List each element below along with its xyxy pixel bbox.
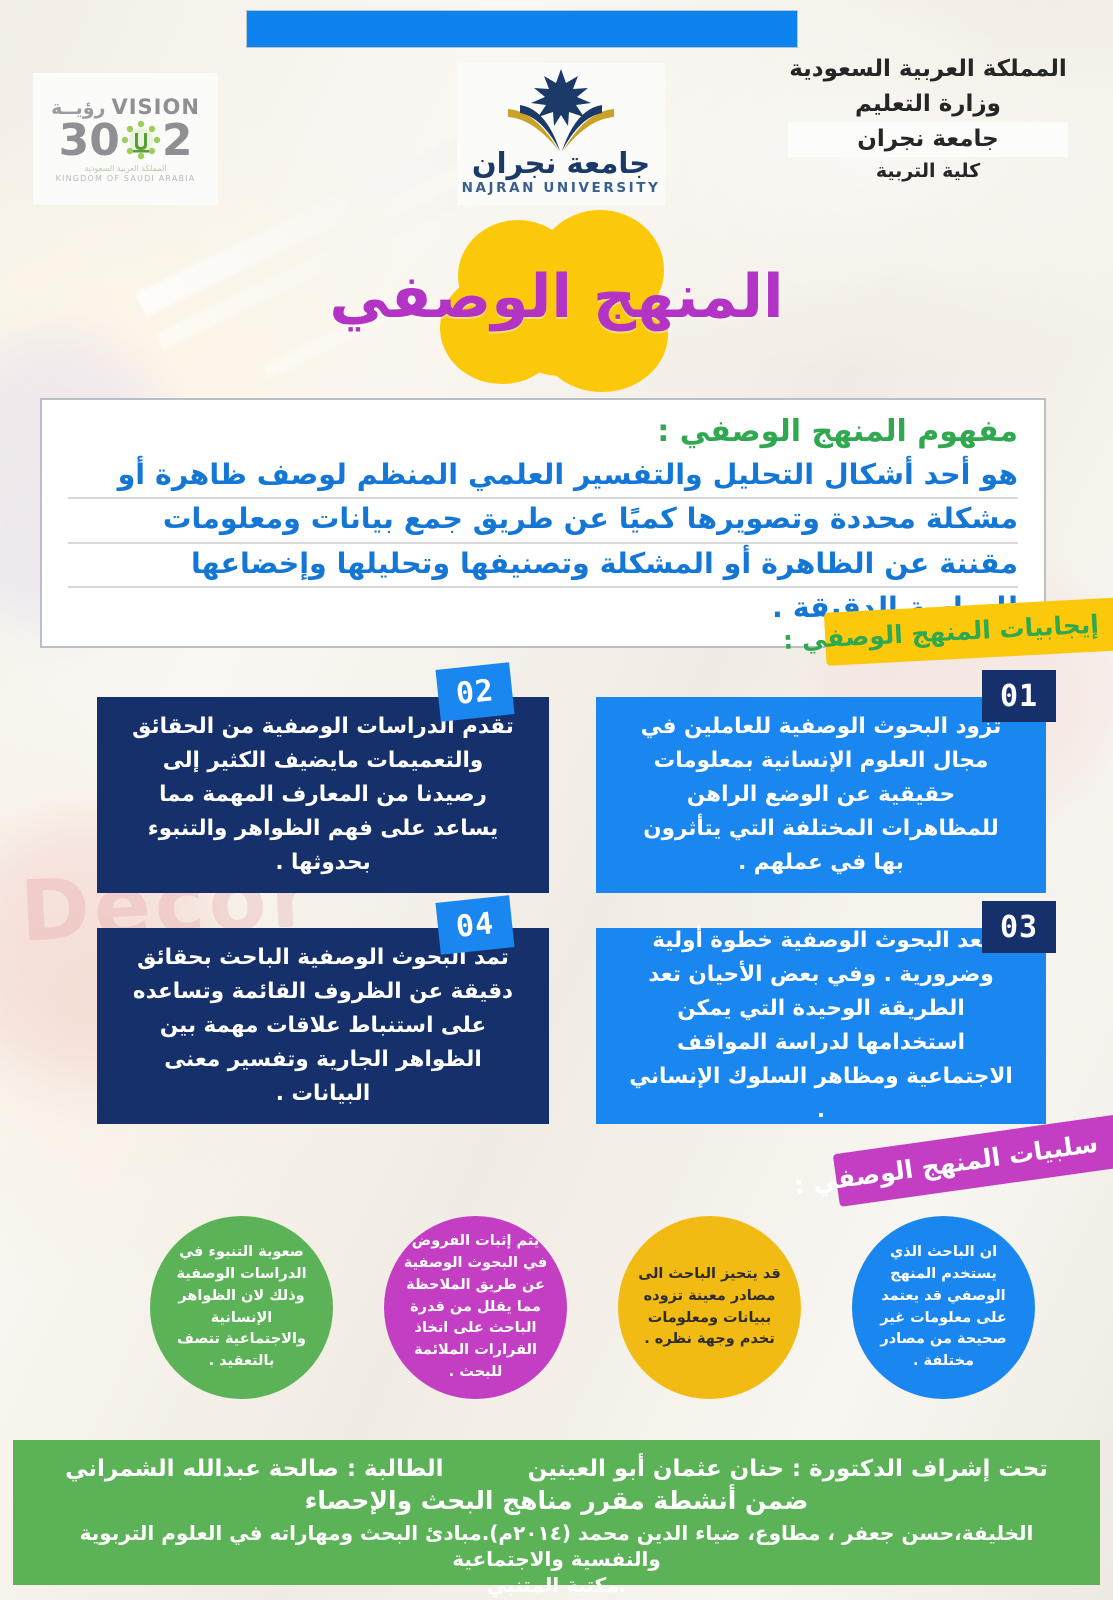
positive-card-03: تعد البحوث الوصفية خطوة أولية وضرورية . … (596, 928, 1046, 1124)
positive-card-text: تمد البحوث الوصفية الباحث بحقائق دقيقة ع… (127, 941, 519, 1111)
vision-year-right: 30 (59, 120, 120, 162)
positive-card-04: تمد البحوث الوصفية الباحث بحقائق دقيقة ع… (97, 928, 549, 1124)
footer-supervisor: تحت إشراف الدكتورة : حنان عثمان أبو العي… (528, 1456, 1048, 1482)
vision-year-left: 2 (162, 120, 193, 162)
concept-body: هو أحد أشكال التحليل والتفسير العلمي الم… (68, 455, 1018, 631)
header-line-ministry: وزارة التعليم (788, 87, 1068, 122)
negative-circle-1: صعوبة التنبوء في الدراسات الوصفية وذلك ل… (150, 1216, 333, 1399)
concept-heading: مفهوم المنهج الوصفي : (68, 414, 1018, 449)
vision-sub-english: KINGDOM OF SAUDI ARABIA (56, 174, 196, 183)
institution-header: المملكة العربية السعودية وزارة التعليم ج… (788, 52, 1068, 186)
saudi-vision-emblem-icon (121, 120, 161, 160)
positive-card-badge-02: 02 (435, 662, 514, 721)
negative-circle-text: قد يتحيز الباحث الى مصادر معينة تزوده بب… (636, 1264, 783, 1351)
concept-line: هو أحد أشكال التحليل والتفسير العلمي الم… (68, 455, 1018, 499)
concept-line: مشكلة محددة وتصويرها كميًا عن طريق جمع ب… (68, 499, 1018, 543)
header-line-kingdom: المملكة العربية السعودية (788, 52, 1068, 87)
footer-band: تحت إشراف الدكتورة : حنان عثمان أبو العي… (13, 1440, 1100, 1585)
vision-sub-arabic: المملكة العربية السعودية (84, 164, 166, 173)
footer-course: ضمن أنشطة مقرر مناهج البحث والإحصاء (37, 1486, 1076, 1515)
footer-reference-line-1: الخليفة،حسن جعفر ، مطاوع، ضياء الدين محم… (37, 1520, 1076, 1572)
top-accent-bar (246, 10, 798, 48)
footer-reference-line-2: .مكتبة المتنبي (37, 1572, 1076, 1598)
poster-canvas: Decor VISION رؤيــة 2 (0, 0, 1113, 1600)
najran-name-arabic: جامعة نجران (472, 149, 650, 178)
footer-student: الطالبة : صالحة عبدالله الشمراني (65, 1456, 443, 1482)
najran-name-english: NAJRAN UNIVERSITY (462, 180, 661, 196)
positive-card-text: تقدم الدراسات الوصفية من الحقائق والتعمي… (127, 710, 519, 880)
negative-circle-4: ان الباحث الذي يستخدم المنهج الوصفي قد ي… (852, 1216, 1035, 1399)
najran-starburst-icon (498, 67, 624, 153)
positive-card-text: تزود البحوث الوصفية للعاملين في مجال الع… (626, 710, 1016, 880)
header-line-college: كلية التربية (788, 157, 1068, 186)
positive-card-02: تقدم الدراسات الوصفية من الحقائق والتعمي… (97, 697, 549, 893)
positive-card-badge-01: 01 (982, 670, 1056, 722)
positive-card-01: تزود البحوث الوصفية للعاملين في مجال الع… (596, 697, 1046, 893)
najran-university-logo: جامعة نجران NAJRAN UNIVERSITY (457, 63, 665, 205)
negative-circle-2: يتم إثبات الفروض في البحوث الوصفية عن طر… (384, 1216, 567, 1399)
negative-circle-text: ان الباحث الذي يستخدم المنهج الوصفي قد ي… (870, 1242, 1017, 1373)
negative-circle-text: يتم إثبات الفروض في البحوث الوصفية عن طر… (402, 1231, 549, 1383)
vision-year: 2 3 (59, 120, 193, 162)
positive-card-badge-03: 03 (982, 901, 1056, 953)
negative-circle-text: صعوبة التنبوء في الدراسات الوصفية وذلك ل… (168, 1242, 315, 1373)
page-title: المنهج الوصفي (0, 262, 1113, 332)
positive-card-text: تعد البحوث الوصفية خطوة أولية وضرورية . … (626, 924, 1016, 1128)
positive-card-badge-04: 04 (435, 895, 514, 954)
negative-circle-3: قد يتحيز الباحث الى مصادر معينة تزوده بب… (618, 1216, 801, 1399)
vision-2030-logo: VISION رؤيــة 2 (33, 73, 218, 205)
footer-credits: تحت إشراف الدكتورة : حنان عثمان أبو العي… (37, 1456, 1076, 1482)
concept-line: مقننة عن الظاهرة أو المشكلة وتصنيفها وتح… (68, 544, 1018, 588)
header-line-university: جامعة نجران (788, 122, 1068, 157)
